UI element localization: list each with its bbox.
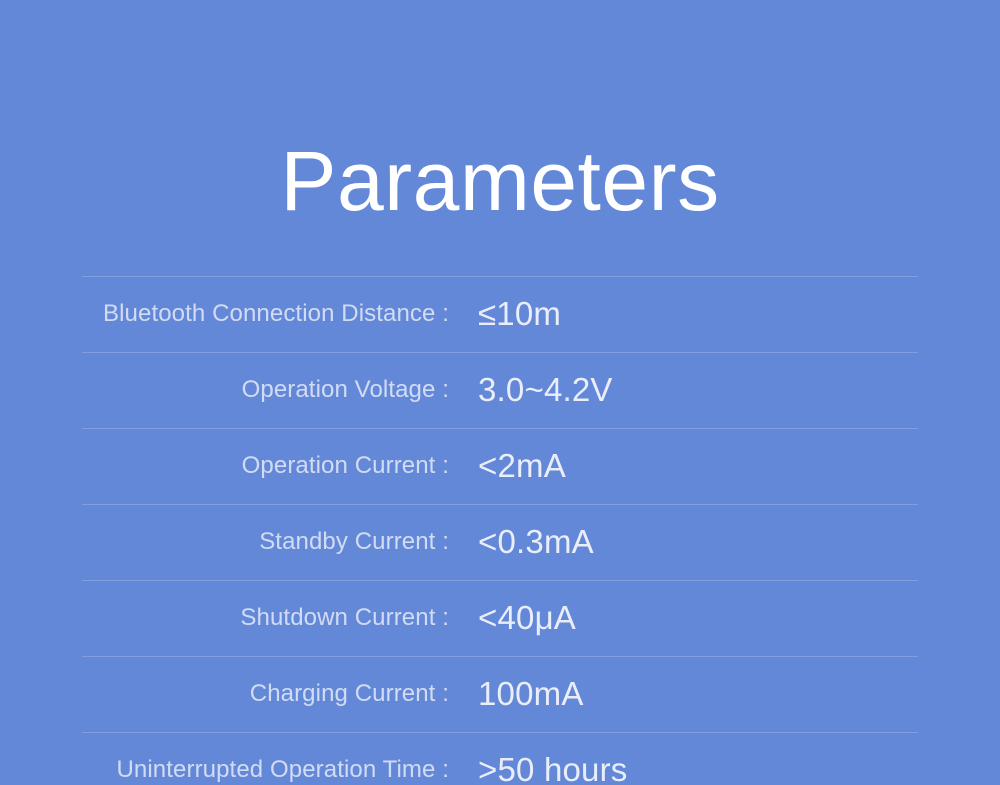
parameters-page: Parameters Bluetooth Connection Distance…	[0, 0, 1000, 785]
spec-label: Charging Current :	[82, 681, 449, 707]
spec-value: <0.3mA	[449, 524, 918, 560]
table-row: Shutdown Current : <40μA	[82, 580, 918, 656]
spec-label: Operation Voltage :	[82, 377, 449, 403]
spec-value: ≤10m	[449, 296, 918, 332]
table-row: Operation Voltage : 3.0~4.2V	[82, 352, 918, 428]
spec-label: Shutdown Current :	[82, 605, 449, 631]
table-row: Charging Current : 100mA	[82, 656, 918, 732]
spec-value: <40μA	[449, 600, 918, 636]
spec-label: Uninterrupted Operation Time :	[82, 757, 449, 783]
spec-label: Operation Current :	[82, 453, 449, 479]
page-title: Parameters	[0, 139, 1000, 223]
table-row: Uninterrupted Operation Time : >50 hours	[82, 732, 918, 785]
specifications-table: Bluetooth Connection Distance : ≤10m Ope…	[82, 276, 918, 785]
spec-label: Standby Current :	[82, 529, 449, 555]
spec-value: 100mA	[449, 676, 918, 712]
spec-label: Bluetooth Connection Distance :	[82, 301, 449, 327]
table-row: Operation Current : <2mA	[82, 428, 918, 504]
spec-value: <2mA	[449, 448, 918, 484]
table-row: Bluetooth Connection Distance : ≤10m	[82, 276, 918, 352]
spec-value: >50 hours	[449, 752, 918, 785]
spec-value: 3.0~4.2V	[449, 372, 918, 408]
table-row: Standby Current : <0.3mA	[82, 504, 918, 580]
